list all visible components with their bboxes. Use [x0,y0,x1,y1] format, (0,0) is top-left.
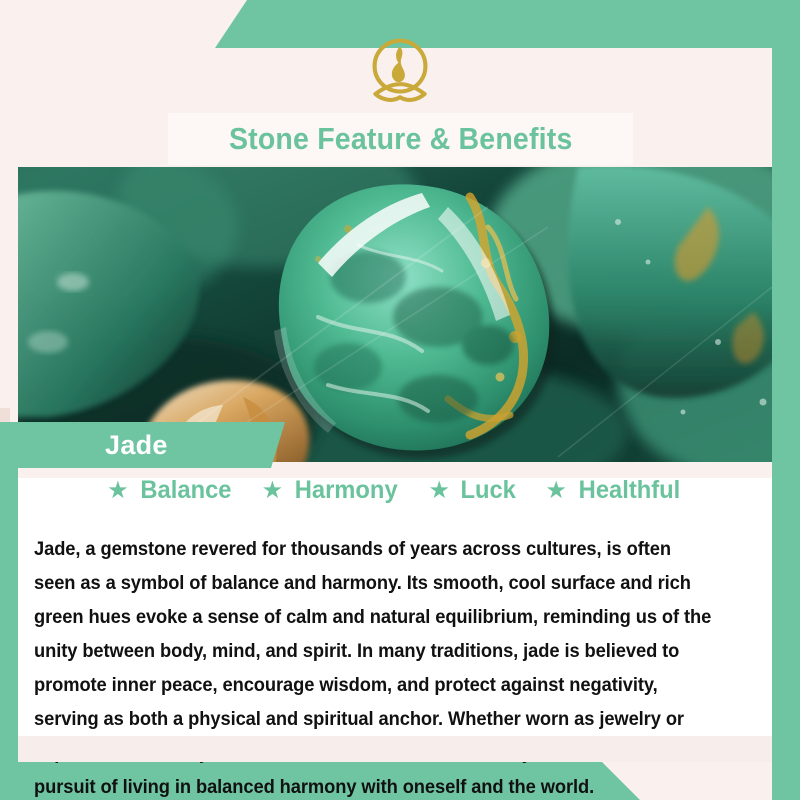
benefit-label: Healthful [579,476,681,505]
benefit-item-harmony: ★ Harmony [262,476,401,505]
benefit-item-luck: ★ Luck [428,476,517,505]
benefit-label: Harmony [295,476,398,505]
star-icon: ★ [107,479,129,503]
star-icon: ★ [428,479,450,503]
stone-name-banner: Jade [0,422,285,468]
infographic-page: Stone Feature & Benefits [0,0,800,800]
card-bottom-strip [18,736,772,762]
content-card: ★ Balance ★ Harmony ★ Luck ★ Healthful J… [18,468,772,762]
jade-stones-photo [18,167,772,462]
page-title: Stone Feature & Benefits [229,121,573,157]
star-icon: ★ [262,479,284,503]
star-icon: ★ [545,479,567,503]
brand-logo-container [0,30,800,112]
decorative-frame-right [772,0,800,800]
benefit-item-balance: ★ Balance [107,476,233,505]
benefit-label: Balance [140,476,231,505]
benefits-list: ★ Balance ★ Harmony ★ Luck ★ Healthful [18,476,772,505]
meditation-lotus-figure-icon [359,30,441,112]
jade-photo-illustration [18,167,772,462]
benefit-label: Luck [460,476,515,505]
benefit-item-healthful: ★ Healthful [545,476,682,505]
page-title-bar: Stone Feature & Benefits [168,113,633,165]
stone-name: Jade [105,430,168,461]
